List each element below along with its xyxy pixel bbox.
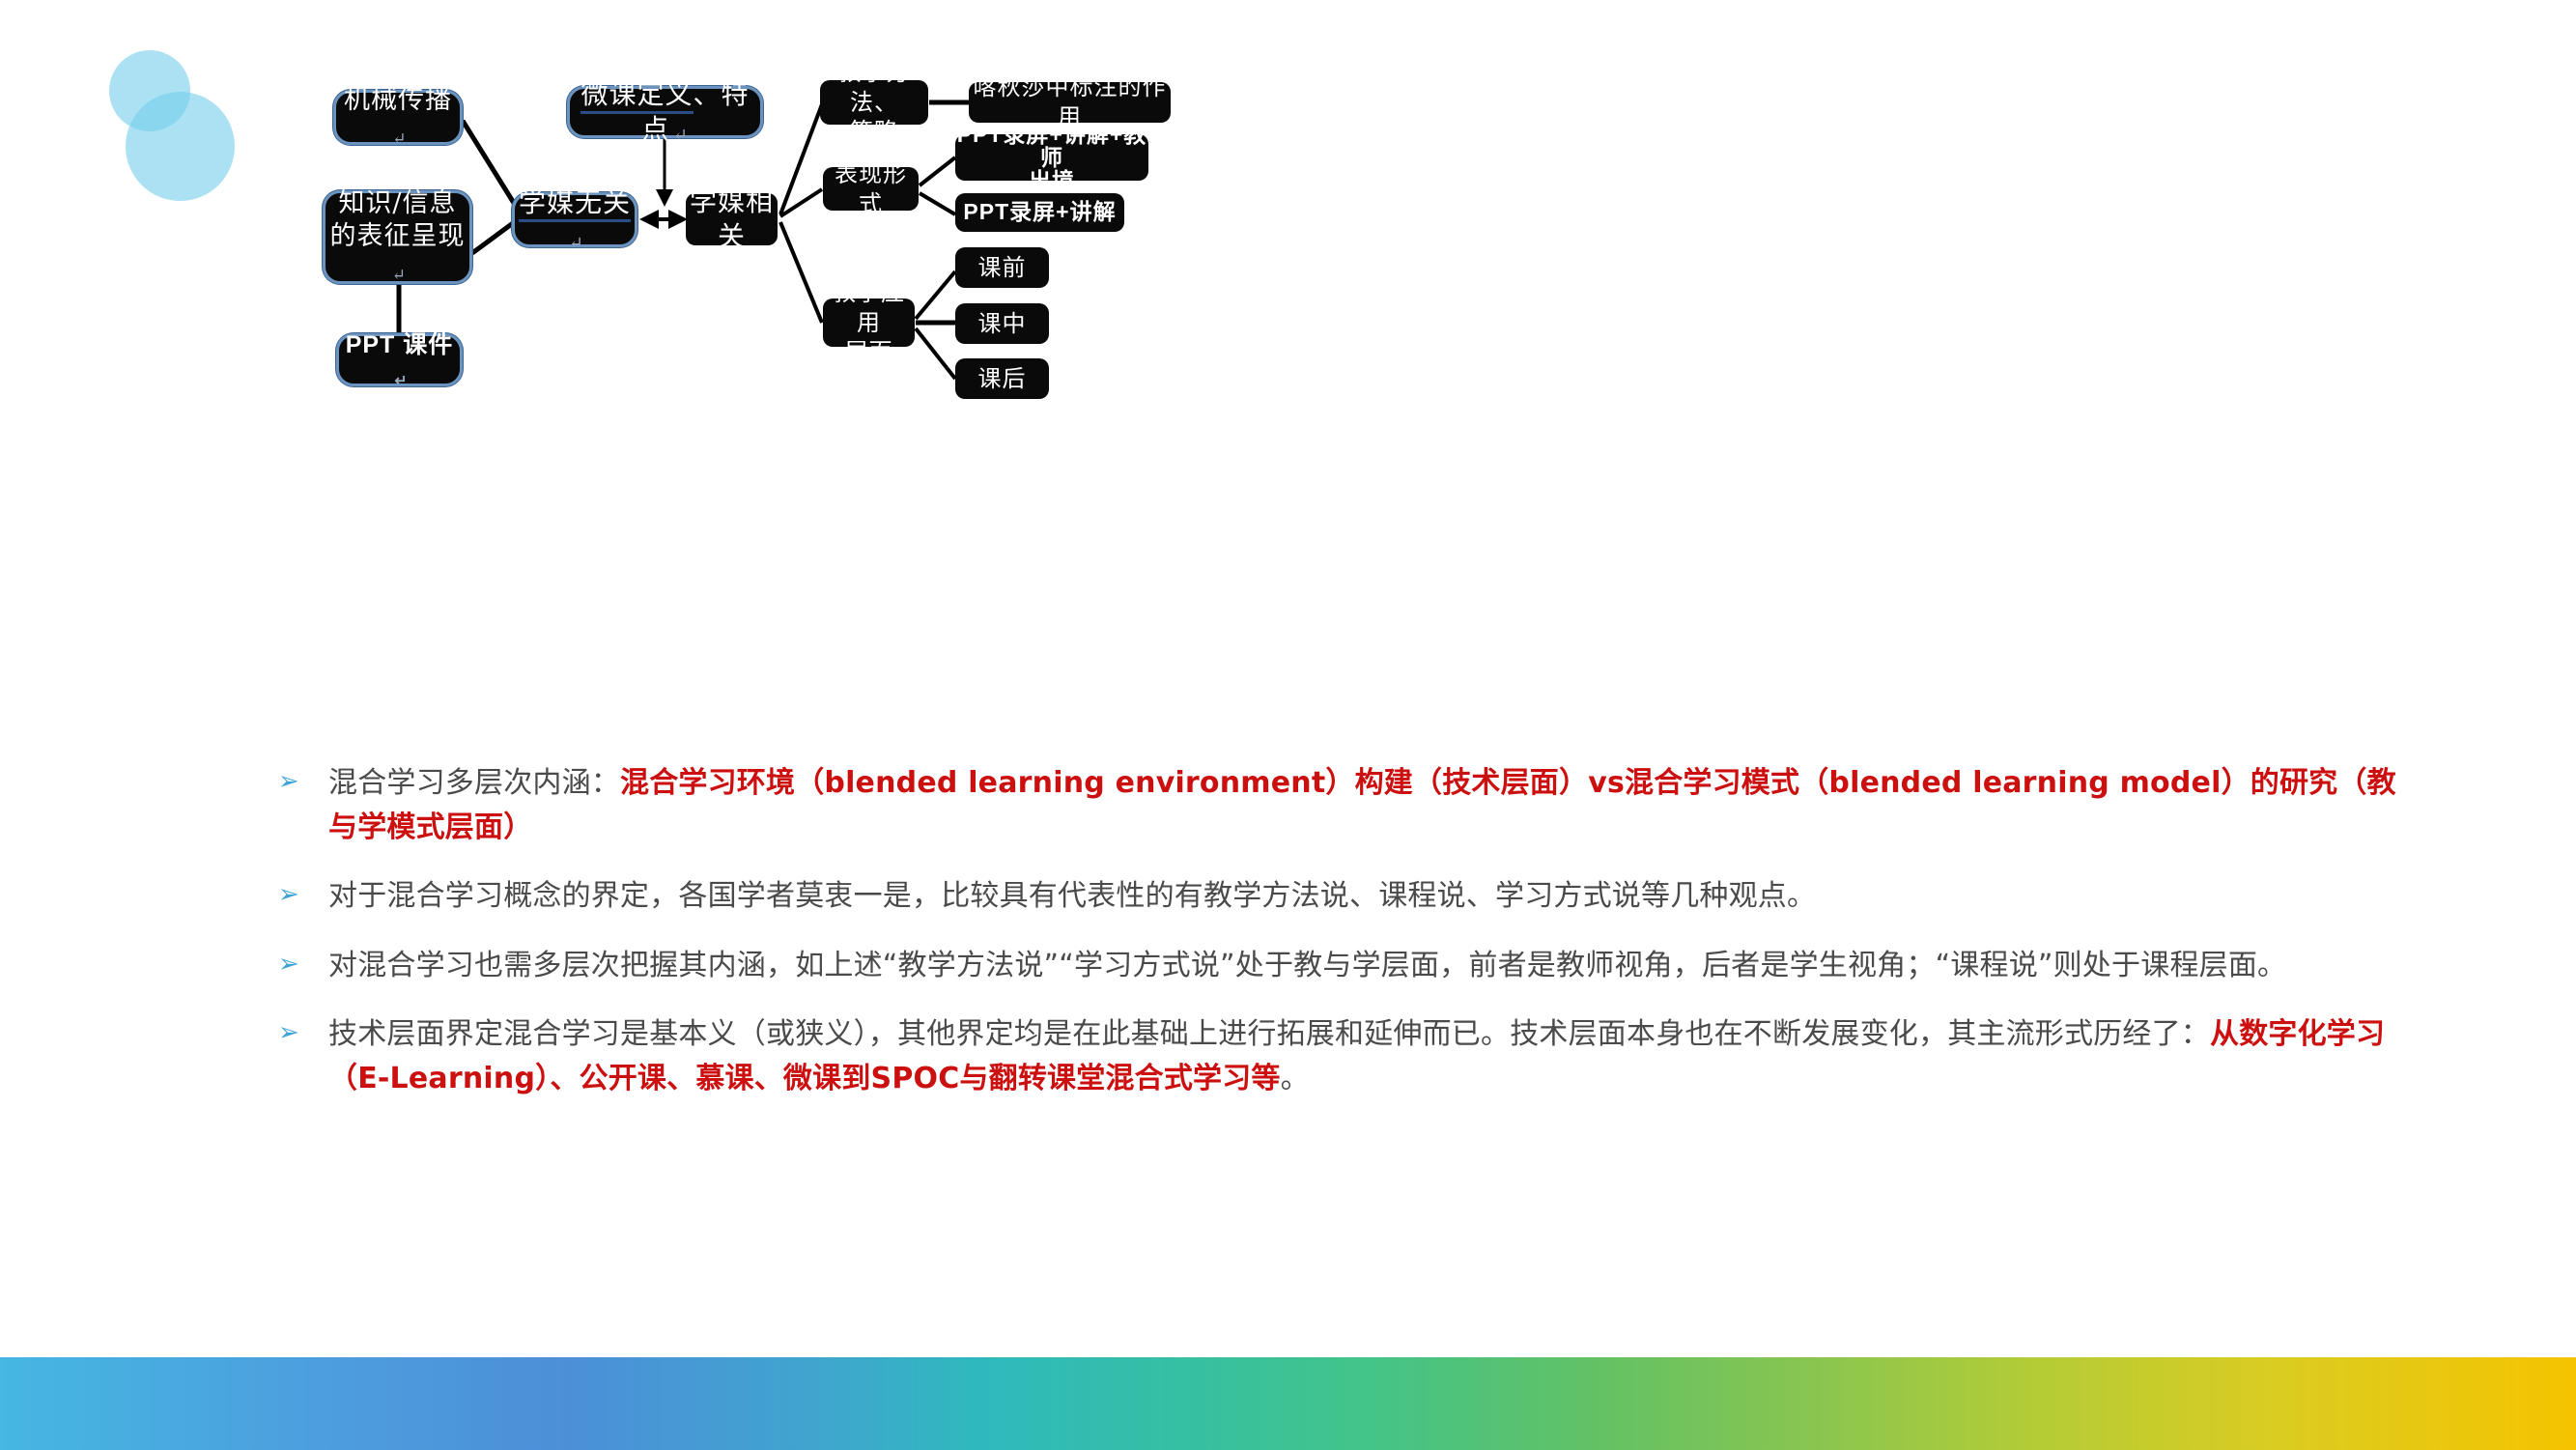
node-teaching-application-layer[interactable]: 教学应用 层面 [823,299,915,347]
node-label-underlined: 微课定义 [580,78,693,114]
node-label-line2: 层面 [845,337,893,367]
node-label: 课前 [978,253,1027,283]
node-presentation-form[interactable]: 表现形式 [823,167,919,211]
node-label-line1: PPT录屏+讲解+教师 [955,123,1148,169]
paragraph-mark-icon: ↵ [673,126,689,145]
footer-gradient-bar [0,1357,2576,1450]
node-micro-lesson-definition[interactable]: 微课定义、特点↵ [567,86,763,138]
node-label-line1: 教学应用 [823,278,915,337]
node-media-irrelevant[interactable]: 学媒无关↵ [512,192,637,247]
node-label: 课中 [978,309,1027,339]
node-ppt-recording-narration-teacher[interactable]: PPT录屏+讲解+教师 出境 [955,134,1148,181]
node-label: 学媒相关 [686,185,778,254]
normal-text: 。 [1281,1062,1310,1095]
node-label-line1: 教学方法、 [820,58,928,117]
bullet-item: ➢技术层面界定混合学习是基本义（或狭义），其他界定均是在此基础上进行拓展和延伸而… [278,1012,2413,1100]
node-knowledge-information[interactable]: 知识/信息 的表征呈现↵ [323,190,472,284]
normal-text: 对混合学习也需多层次把握其内涵，如上述“教学方法说”“学习方式说”处于教与学层面… [328,949,2286,982]
bullet-arrow-icon: ➢ [278,944,328,984]
node-label: PPT录屏+讲解 [963,198,1116,226]
normal-text: 对于混合学习概念的界定，各国学者莫衷一是，比较具有代表性的有教学方法说、课程说、… [328,879,1816,913]
node-camtasia-annotation-role[interactable]: 喀秋莎中标注的作用 [969,82,1171,123]
node-ppt-courseware[interactable]: PPT 课件↵ [336,333,463,386]
node-label: PPT 课件 [346,331,454,358]
node-label-line1: 知识/信息 [338,187,456,221]
node-mechanical-transmission[interactable]: 机械传播↵ [333,90,463,145]
node-media-relevant[interactable]: 学媒相关 [686,193,778,245]
node-label-line2: 策略 [850,117,898,147]
bullet-text: 对混合学习也需多层次把握其内涵，如上述“教学方法说”“学习方式说”处于教与学层面… [328,944,2413,988]
node-ppt-recording-narration[interactable]: PPT录屏+讲解 [955,193,1124,232]
bullet-arrow-icon: ➢ [278,1012,328,1053]
node-label: 学媒无关 [519,186,631,222]
node-label: 表现形式 [823,159,919,218]
bullet-text: 对于混合学习概念的界定，各国学者莫衷一是，比较具有代表性的有教学方法说、课程说、… [328,874,2413,919]
paragraph-mark-icon: ↵ [392,265,407,284]
paragraph-mark-icon: ↵ [569,234,584,253]
bullet-item: ➢对混合学习也需多层次把握其内涵，如上述“教学方法说”“学习方式说”处于教与学层… [278,944,2413,988]
node-label: 课后 [978,364,1027,394]
node-after-class[interactable]: 课后 [955,358,1049,399]
node-teaching-method-strategy[interactable]: 教学方法、 策略 [820,80,928,125]
node-label: 机械传播 [344,85,452,115]
node-before-class[interactable]: 课前 [955,247,1049,288]
normal-text: 技术层面界定混合学习是基本义（或狭义），其他界定均是在此基础上进行拓展和延伸而已… [328,1017,2210,1051]
node-label-line2: 出境 [1029,169,1075,192]
paragraph-mark-icon: ↵ [392,128,407,148]
node-during-class[interactable]: 课中 [955,303,1049,344]
bullet-list: ➢混合学习多层次内涵：混合学习环境（blended learning envir… [278,761,2413,1126]
concept-diagram: 机械传播↵ 知识/信息 的表征呈现↵ PPT 课件↵ 微课定义、特点↵ 学媒无关… [0,0,2576,734]
bullet-item: ➢混合学习多层次内涵：混合学习环境（blended learning envir… [278,761,2413,849]
bullet-text: 技术层面界定混合学习是基本义（或狭义），其他界定均是在此基础上进行拓展和延伸而已… [328,1012,2413,1100]
normal-text: 混合学习多层次内涵： [328,766,620,800]
bullet-item: ➢对于混合学习概念的界定，各国学者莫衷一是，比较具有代表性的有教学方法说、课程说… [278,874,2413,919]
paragraph-mark-icon: ↵ [395,373,409,389]
slide-canvas: 机械传播↵ 知识/信息 的表征呈现↵ PPT 课件↵ 微课定义、特点↵ 学媒无关… [0,0,2576,1450]
bullet-text: 混合学习多层次内涵：混合学习环境（blended learning enviro… [328,761,2413,849]
bullet-arrow-icon: ➢ [278,874,328,915]
bullet-arrow-icon: ➢ [278,761,328,802]
highlight-text: 混合学习环境（blended learning environment）构建（技… [328,766,2396,844]
node-label-line2: 的表征呈现 [330,221,466,251]
